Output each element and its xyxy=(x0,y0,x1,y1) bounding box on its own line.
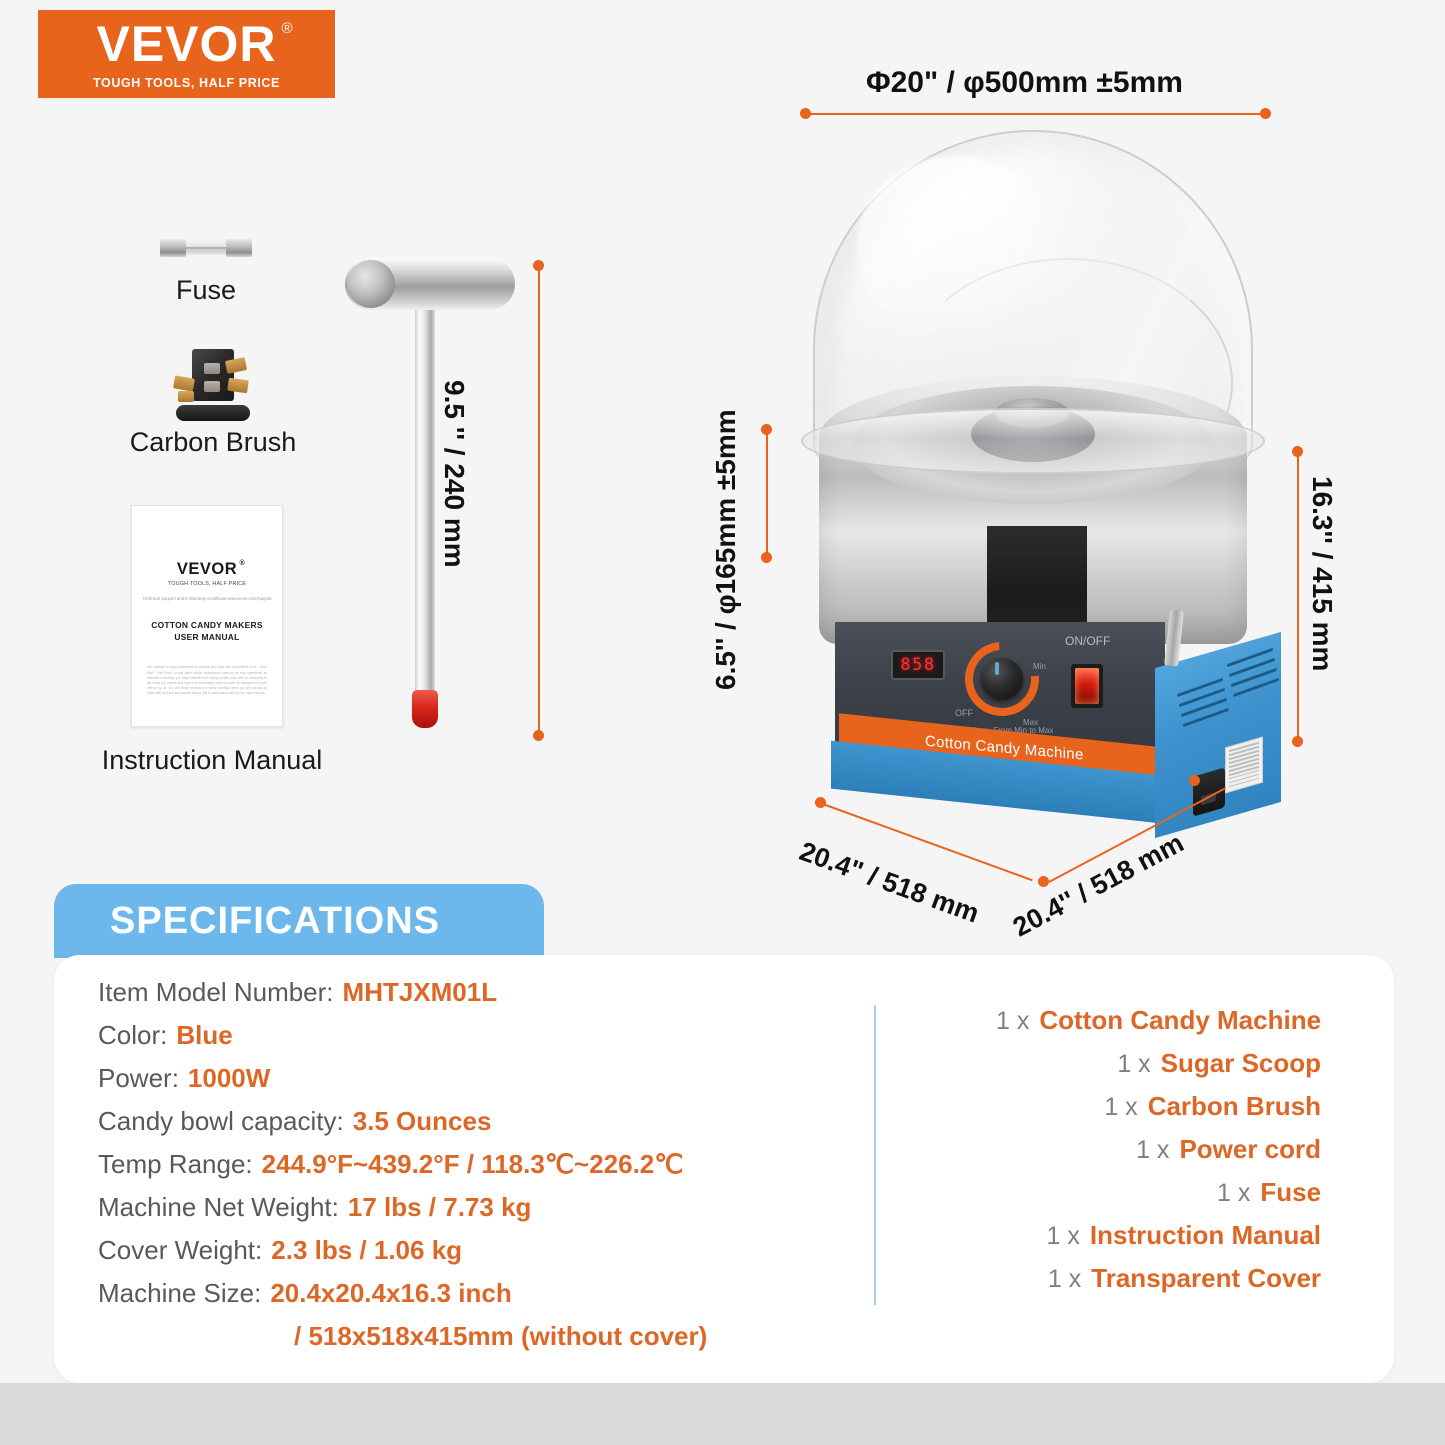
specifications-header-tab: SPECIFICATIONS xyxy=(54,884,544,958)
brand-name-text: VEVOR xyxy=(96,16,276,72)
brush-terminal-1 xyxy=(225,357,247,374)
machine-height-dot-bottom xyxy=(1292,736,1303,747)
spec-value: 1000W xyxy=(188,1063,270,1094)
spec-row: Power: 1000W xyxy=(98,1063,707,1106)
manual-tagline: TOUGH TOOLS, HALF PRICE xyxy=(168,581,246,587)
package-item-name: Carbon Brush xyxy=(1148,1091,1321,1122)
fuse-cap-right xyxy=(226,239,252,257)
base-width-left-dimension: 20.4" / 518 mm xyxy=(795,836,983,930)
package-item-name: Instruction Manual xyxy=(1090,1220,1321,1251)
package-item-qty: 1 x xyxy=(1047,1222,1080,1251)
power-switch-indicator xyxy=(1075,668,1099,704)
dome-rim xyxy=(801,408,1265,474)
specifications-list: Item Model Number: MHTJXM01L Color: Blue… xyxy=(98,977,707,1364)
list-item: 1 x Instruction Manual xyxy=(996,1220,1321,1263)
list-item: 1 x Transparent Cover xyxy=(996,1263,1321,1306)
machine-height-line xyxy=(1297,452,1299,742)
spec-value: Blue xyxy=(176,1020,232,1051)
knob-indicator xyxy=(995,662,999,675)
manual-body-text: We continue to pay commitment to provide… xyxy=(147,665,267,696)
manual-logo: VEVOR® xyxy=(177,560,237,579)
spec-key: Temp Range: xyxy=(98,1149,253,1180)
dome-diameter-dimension: Φ20" / φ500mm ±5mm xyxy=(866,66,1183,100)
spec-key: Item Model Number: xyxy=(98,977,334,1008)
brush-terminal-4 xyxy=(178,391,194,402)
brand-name: VEVOR® xyxy=(96,19,276,69)
spec-key: Color: xyxy=(98,1020,167,1051)
manual-title-line2: USER MANUAL xyxy=(174,632,239,642)
specifications-heading: SPECIFICATIONS xyxy=(110,900,440,943)
spec-row: Candy bowl capacity: 3.5 Ounces xyxy=(98,1106,707,1149)
base-width-right-dimension: 20.4'' / 518 mm xyxy=(1008,828,1189,944)
manual-support-line: Technical Support and E-Warranty Certifi… xyxy=(142,596,272,601)
spec-row: Machine Size: 20.4x20.4x16.3 inch xyxy=(98,1278,707,1321)
list-item: 1 x Carbon Brush xyxy=(996,1091,1321,1134)
spec-key: Cover Weight: xyxy=(98,1235,262,1266)
brand-tagline: TOUGH TOOLS, HALF PRICE xyxy=(93,76,280,90)
package-item-qty: 1 x xyxy=(996,1007,1029,1036)
brush-base xyxy=(176,405,250,421)
spec-continuation-row: / 518x518x415mm (without cover) xyxy=(98,1321,707,1364)
brush-body xyxy=(192,349,234,401)
dome-diameter-line xyxy=(806,113,1266,115)
base-width-left-dot-end xyxy=(1038,876,1049,887)
spec-value: MHTJXM01L xyxy=(343,977,498,1008)
spec-row: Item Model Number: MHTJXM01L xyxy=(98,977,707,1020)
fuse-icon xyxy=(160,238,252,258)
instruction-manual-icon: VEVOR® TOUGH TOOLS, HALF PRICE Technical… xyxy=(131,505,283,727)
scoop-length-dimension: 9.5 '' / 240 mm xyxy=(438,380,470,568)
dome-diameter-dot-left xyxy=(800,108,811,119)
product-spec-page: VEVOR® TOUGH TOOLS, HALF PRICE Fuse Carb… xyxy=(0,0,1445,1445)
fuse-wire xyxy=(184,247,230,249)
list-item: 1 x Power cord xyxy=(996,1134,1321,1177)
machine-height-dimension: 16.3'' / 415 mm xyxy=(1306,476,1338,671)
bowl-depth-line xyxy=(766,430,768,558)
spec-key: Machine Size: xyxy=(98,1278,261,1309)
spec-row: Cover Weight: 2.3 lbs / 1.06 kg xyxy=(98,1235,707,1278)
power-switch[interactable] xyxy=(1071,664,1103,708)
manual-registered-mark: ® xyxy=(239,560,245,567)
list-item: 1 x Sugar Scoop xyxy=(996,1048,1321,1091)
list-item: 1 x Cotton Candy Machine xyxy=(996,1005,1321,1048)
package-item-qty: 1 x xyxy=(1104,1093,1137,1122)
power-switch-label: ON/OFF xyxy=(1065,634,1110,648)
cotton-candy-machine-image: 858 OFF Min Max Working Area, From Min t… xyxy=(795,130,1295,830)
specifications-card: Item Model Number: MHTJXM01L Color: Blue… xyxy=(54,955,1394,1383)
scoop-dimension-dot-bottom xyxy=(533,730,544,741)
base-width-left-dot-start xyxy=(815,797,826,808)
spec-value: 17 lbs / 7.73 kg xyxy=(348,1192,532,1223)
package-contents-divider xyxy=(874,1005,876,1305)
scoop-red-tip xyxy=(412,690,438,728)
spec-row: Machine Net Weight: 17 lbs / 7.73 kg xyxy=(98,1192,707,1235)
accessory-label-carbon-brush: Carbon Brush xyxy=(113,427,313,458)
spec-key: Candy bowl capacity: xyxy=(98,1106,344,1137)
scoop-shaft xyxy=(415,306,435,700)
package-item-name: Sugar Scoop xyxy=(1161,1048,1321,1079)
temperature-display: 858 xyxy=(891,650,945,680)
package-item-name: Cotton Candy Machine xyxy=(1039,1005,1321,1036)
spec-value: 2.3 lbs / 1.06 kg xyxy=(271,1235,462,1266)
bottom-band xyxy=(0,1383,1445,1445)
temperature-display-value: 858 xyxy=(900,655,935,675)
bowl-depth-dot-bottom xyxy=(761,552,772,563)
package-contents-section: 1 x Cotton Candy Machine 1 x Sugar Scoop… xyxy=(874,1005,1321,1306)
dome-diameter-dot-right xyxy=(1260,108,1271,119)
spec-continuation-value: / 518x518x415mm (without cover) xyxy=(294,1321,707,1351)
vevor-logo: VEVOR® TOUGH TOOLS, HALF PRICE xyxy=(38,10,335,98)
brush-window-bottom xyxy=(204,381,220,392)
machine-height-dot-top xyxy=(1292,446,1303,457)
spec-key: Power: xyxy=(98,1063,179,1094)
package-item-qty: 1 x xyxy=(1117,1050,1150,1079)
fuse-cap-left xyxy=(160,239,186,257)
registered-mark: ® xyxy=(281,21,293,36)
package-item-qty: 1 x xyxy=(1136,1136,1169,1165)
knob-label-off: OFF xyxy=(955,708,973,718)
list-item: 1 x Fuse xyxy=(996,1177,1321,1220)
spec-value: 20.4x20.4x16.3 inch xyxy=(270,1278,511,1309)
scoop-dimension-line xyxy=(538,265,540,735)
manual-title: COTTON CANDY MAKERS USER MANUAL xyxy=(151,619,262,643)
package-item-name: Fuse xyxy=(1260,1177,1321,1208)
bowl-depth-dot-top xyxy=(761,424,772,435)
brush-terminal-3 xyxy=(227,378,249,394)
bowl-depth-dimension: 6.5'' / φ165mm ±5mm xyxy=(710,409,742,690)
spec-row: Temp Range: 244.9°F~439.2°F / 118.3℃~226… xyxy=(98,1149,707,1192)
spec-key: Machine Net Weight: xyxy=(98,1192,339,1223)
carbon-brush-icon xyxy=(170,345,256,421)
brush-terminal-2 xyxy=(173,375,195,391)
scoop-head-end-cap xyxy=(347,260,395,308)
spec-value: 244.9°F~439.2°F / 118.3℃~226.2℃ xyxy=(262,1149,684,1180)
base-width-right-dot-end xyxy=(1189,775,1200,786)
package-item-name: Power cord xyxy=(1179,1134,1321,1165)
package-contents-list: 1 x Cotton Candy Machine 1 x Sugar Scoop… xyxy=(996,1005,1321,1306)
manual-title-line1: COTTON CANDY MAKERS xyxy=(151,620,262,630)
package-item-name: Transparent Cover xyxy=(1091,1263,1321,1294)
manual-logo-text: VEVOR xyxy=(177,560,237,578)
package-item-qty: 1 x xyxy=(1048,1265,1081,1294)
scoop-dimension-dot-top xyxy=(533,260,544,271)
temperature-knob[interactable] xyxy=(981,658,1023,700)
spec-row: Color: Blue xyxy=(98,1020,707,1063)
knob-label-min: Min xyxy=(1033,662,1046,671)
accessory-label-fuse: Fuse xyxy=(116,275,296,306)
spec-value: 3.5 Ounces xyxy=(353,1106,492,1137)
package-item-qty: 1 x xyxy=(1217,1179,1250,1208)
accessory-label-instruction-manual: Instruction Manual xyxy=(82,745,342,776)
brush-window-top xyxy=(204,363,220,374)
